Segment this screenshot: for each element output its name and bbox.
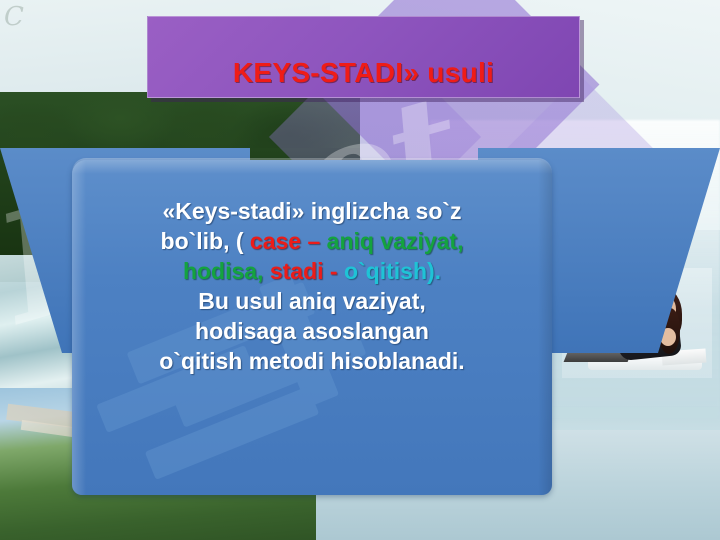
slide-canvas: Hayot C KEYS-STADI» usuli «Keys-stadi» i… bbox=[0, 0, 720, 540]
text-segment: Bu usul aniq vaziyat, bbox=[198, 288, 426, 314]
text-segment: stadi - bbox=[263, 258, 337, 284]
text-segment: o`qitish metodi hisoblanadi. bbox=[159, 348, 464, 374]
body-text-line-2: bo`lib, ( case – aniq vaziyat, bbox=[72, 226, 552, 256]
text-segment: hodisa, bbox=[183, 258, 264, 284]
slide-body-text: «Keys-stadi» inglizcha so`zbo`lib, ( cas… bbox=[72, 196, 552, 376]
corner-mark-icon: C bbox=[4, 2, 24, 32]
text-segment: hodisaga asoslangan bbox=[195, 318, 429, 344]
text-segment: case – bbox=[244, 228, 321, 254]
ribbon-top-highlight bbox=[72, 158, 552, 174]
body-text-line-1: «Keys-stadi» inglizcha so`z bbox=[72, 196, 552, 226]
text-segment: bo`lib, ( bbox=[161, 228, 244, 254]
body-text-line-6: o`qitish metodi hisoblanadi. bbox=[72, 346, 552, 376]
slide-title: KEYS-STADI» usuli bbox=[233, 57, 494, 89]
body-text-line-3: hodisa, stadi - o`qitish). bbox=[72, 256, 552, 286]
text-segment: aniq vaziyat, bbox=[320, 228, 463, 254]
text-segment: «Keys-stadi» inglizcha so`z bbox=[162, 198, 461, 224]
text-segment: o`qitish). bbox=[338, 258, 441, 284]
title-banner: KEYS-STADI» usuli bbox=[147, 16, 580, 98]
body-text-line-4: Bu usul aniq vaziyat, bbox=[72, 286, 552, 316]
body-text-line-5: hodisaga asoslangan bbox=[72, 316, 552, 346]
